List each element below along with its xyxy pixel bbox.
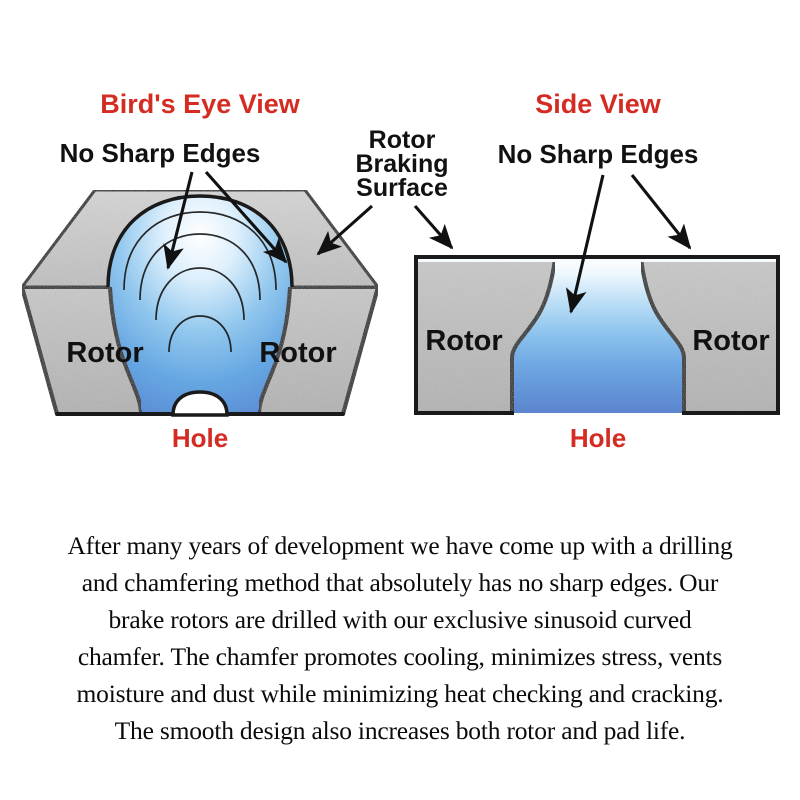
description-paragraph: After many years of development we have …: [8, 527, 792, 749]
rotor-braking-surface-label-line3: Surface: [356, 174, 448, 202]
left-rotor-label-right: Rotor: [259, 337, 336, 369]
rotor-braking-surface-arrow-right: [415, 206, 452, 248]
right-no-sharp-edges-arrow-2: [632, 175, 690, 248]
description-line-1: After many years of development we have …: [8, 527, 792, 564]
side-view-group: Side View No Sharp Edges Rotor Rotor Hol…: [415, 89, 778, 453]
side-hole-label: Hole: [570, 423, 626, 453]
hole-notch-birdseye: [173, 392, 227, 415]
side-rotor-label-right: Rotor: [692, 325, 769, 357]
right-no-sharp-edges-label: No Sharp Edges: [498, 139, 699, 169]
side-rotor-label-left: Rotor: [425, 325, 502, 357]
left-no-sharp-edges-label: No Sharp Edges: [60, 138, 261, 168]
description-line-2: and chamfering method that absolutely ha…: [8, 564, 792, 601]
description-line-3: brake rotors are drilled with our exclus…: [8, 601, 792, 638]
birds-eye-view-group: Bird's Eye View No Sharp Edges Rotor Bra…: [22, 89, 449, 453]
description-line-5: moisture and dust while minimizing heat …: [8, 675, 792, 712]
diagram-page: Bird's Eye View No Sharp Edges Rotor Bra…: [0, 0, 800, 800]
birds-eye-view-title: Bird's Eye View: [100, 89, 301, 119]
side-view-title: Side View: [535, 89, 662, 119]
description-line-4: chamfer. The chamfer promotes cooling, m…: [8, 638, 792, 675]
left-rotor-label-left: Rotor: [66, 337, 143, 369]
left-hole-label: Hole: [172, 423, 228, 453]
chamfer-opening-region: [108, 196, 292, 414]
rotor-chamfer-diagram: Bird's Eye View No Sharp Edges Rotor Bra…: [0, 0, 800, 490]
description-line-6: The smooth design also increases both ro…: [8, 712, 792, 749]
